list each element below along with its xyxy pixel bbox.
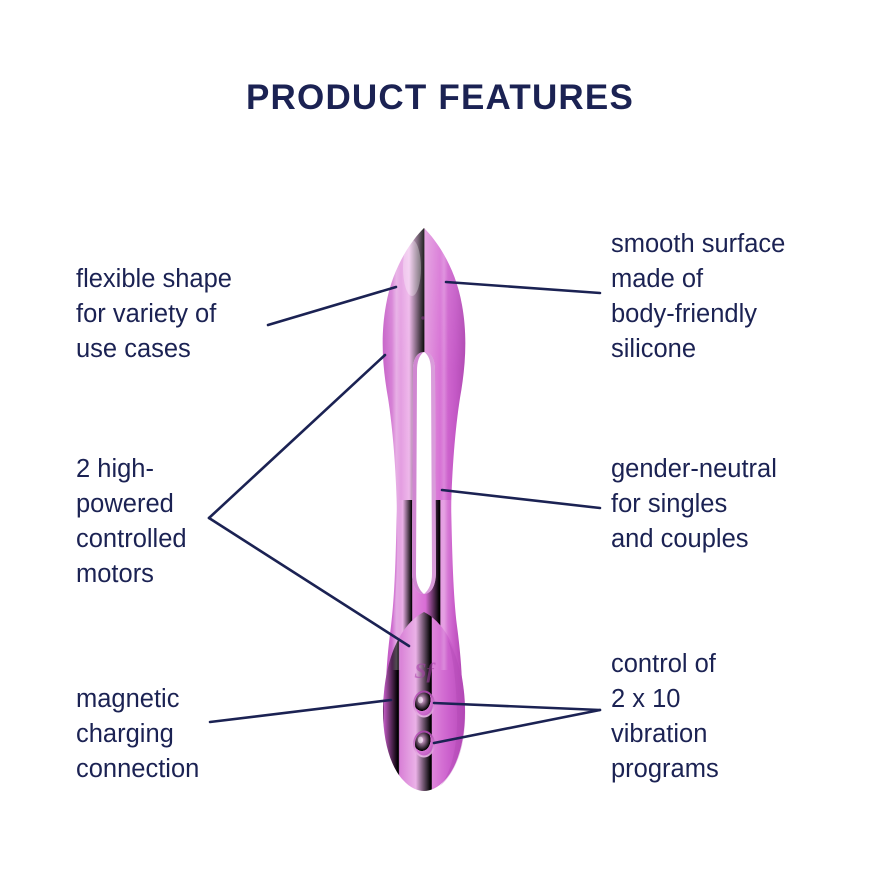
- callout-smooth-surface: smooth surface made of body-friendly sil…: [611, 227, 785, 367]
- callout-magnetic-charging: magnetic charging connection: [76, 682, 199, 787]
- lower-control-button[interactable]: [413, 731, 435, 758]
- leader-line-motors-upper: [209, 355, 385, 518]
- leader-line-smooth-surface: [446, 282, 600, 293]
- product-tip-highlight: [403, 240, 421, 296]
- leader-line-motors-lower: [209, 518, 409, 646]
- callout-vibration-programs: control of 2 x 10 vibration programs: [611, 647, 719, 787]
- upper-control-button[interactable]: [413, 691, 435, 718]
- leader-line-flexible-shape: [268, 287, 396, 325]
- brand-mark-sf: Sf: [414, 658, 436, 683]
- callout-gender-neutral: gender-neutral for singles and couples: [611, 452, 777, 557]
- product-features-diagram: PRODUCT FEATURES: [0, 0, 880, 880]
- leader-line-gender-neutral: [442, 490, 600, 508]
- product-illustration: Sf: [383, 228, 466, 791]
- callout-motors: 2 high- powered controlled motors: [76, 452, 187, 592]
- callout-flexible-shape: flexible shape for variety of use cases: [76, 262, 232, 367]
- product-pin-dot-mark: [421, 316, 424, 319]
- leader-line-magnetic-charging: [210, 700, 391, 722]
